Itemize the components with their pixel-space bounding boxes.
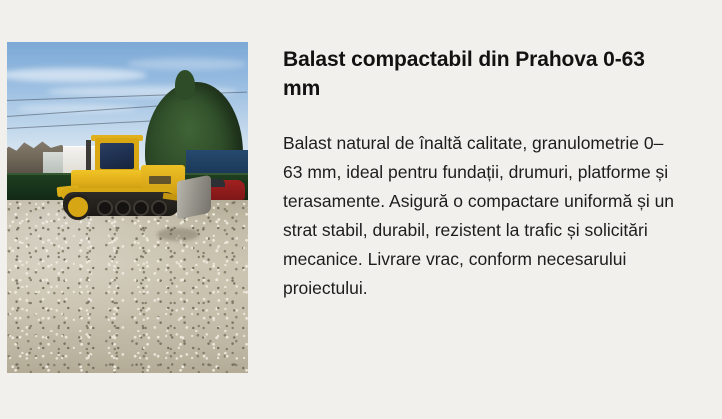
product-text-column: Balast compactabil din Prahova 0-63 mm B… (248, 42, 680, 303)
photo-gravel-texture (7, 200, 248, 373)
bulldozer-roller (115, 200, 131, 216)
bulldozer-roller (97, 200, 113, 216)
product-title: Balast compactabil din Prahova 0-63 mm (283, 45, 680, 103)
product-card: Balast compactabil din Prahova 0-63 mm B… (0, 0, 722, 419)
photo-pine-tree-top (175, 70, 195, 100)
bulldozer-brand-plate (149, 176, 171, 184)
bulldozer-roller (133, 200, 149, 216)
bulldozer-blade (177, 175, 211, 220)
photo-ground-patch (157, 228, 199, 241)
bulldozer-sprocket (65, 194, 91, 220)
product-image[interactable] (7, 42, 248, 373)
product-media-column (7, 42, 248, 373)
bulldozer-roller (151, 200, 167, 216)
photo-bulldozer (51, 138, 211, 218)
bulldozer-exhaust-stack (86, 140, 91, 170)
bulldozer-cab-glass (100, 143, 134, 169)
product-description: Balast natural de înaltă calitate, granu… (283, 129, 680, 303)
photo-cloud (127, 58, 247, 70)
